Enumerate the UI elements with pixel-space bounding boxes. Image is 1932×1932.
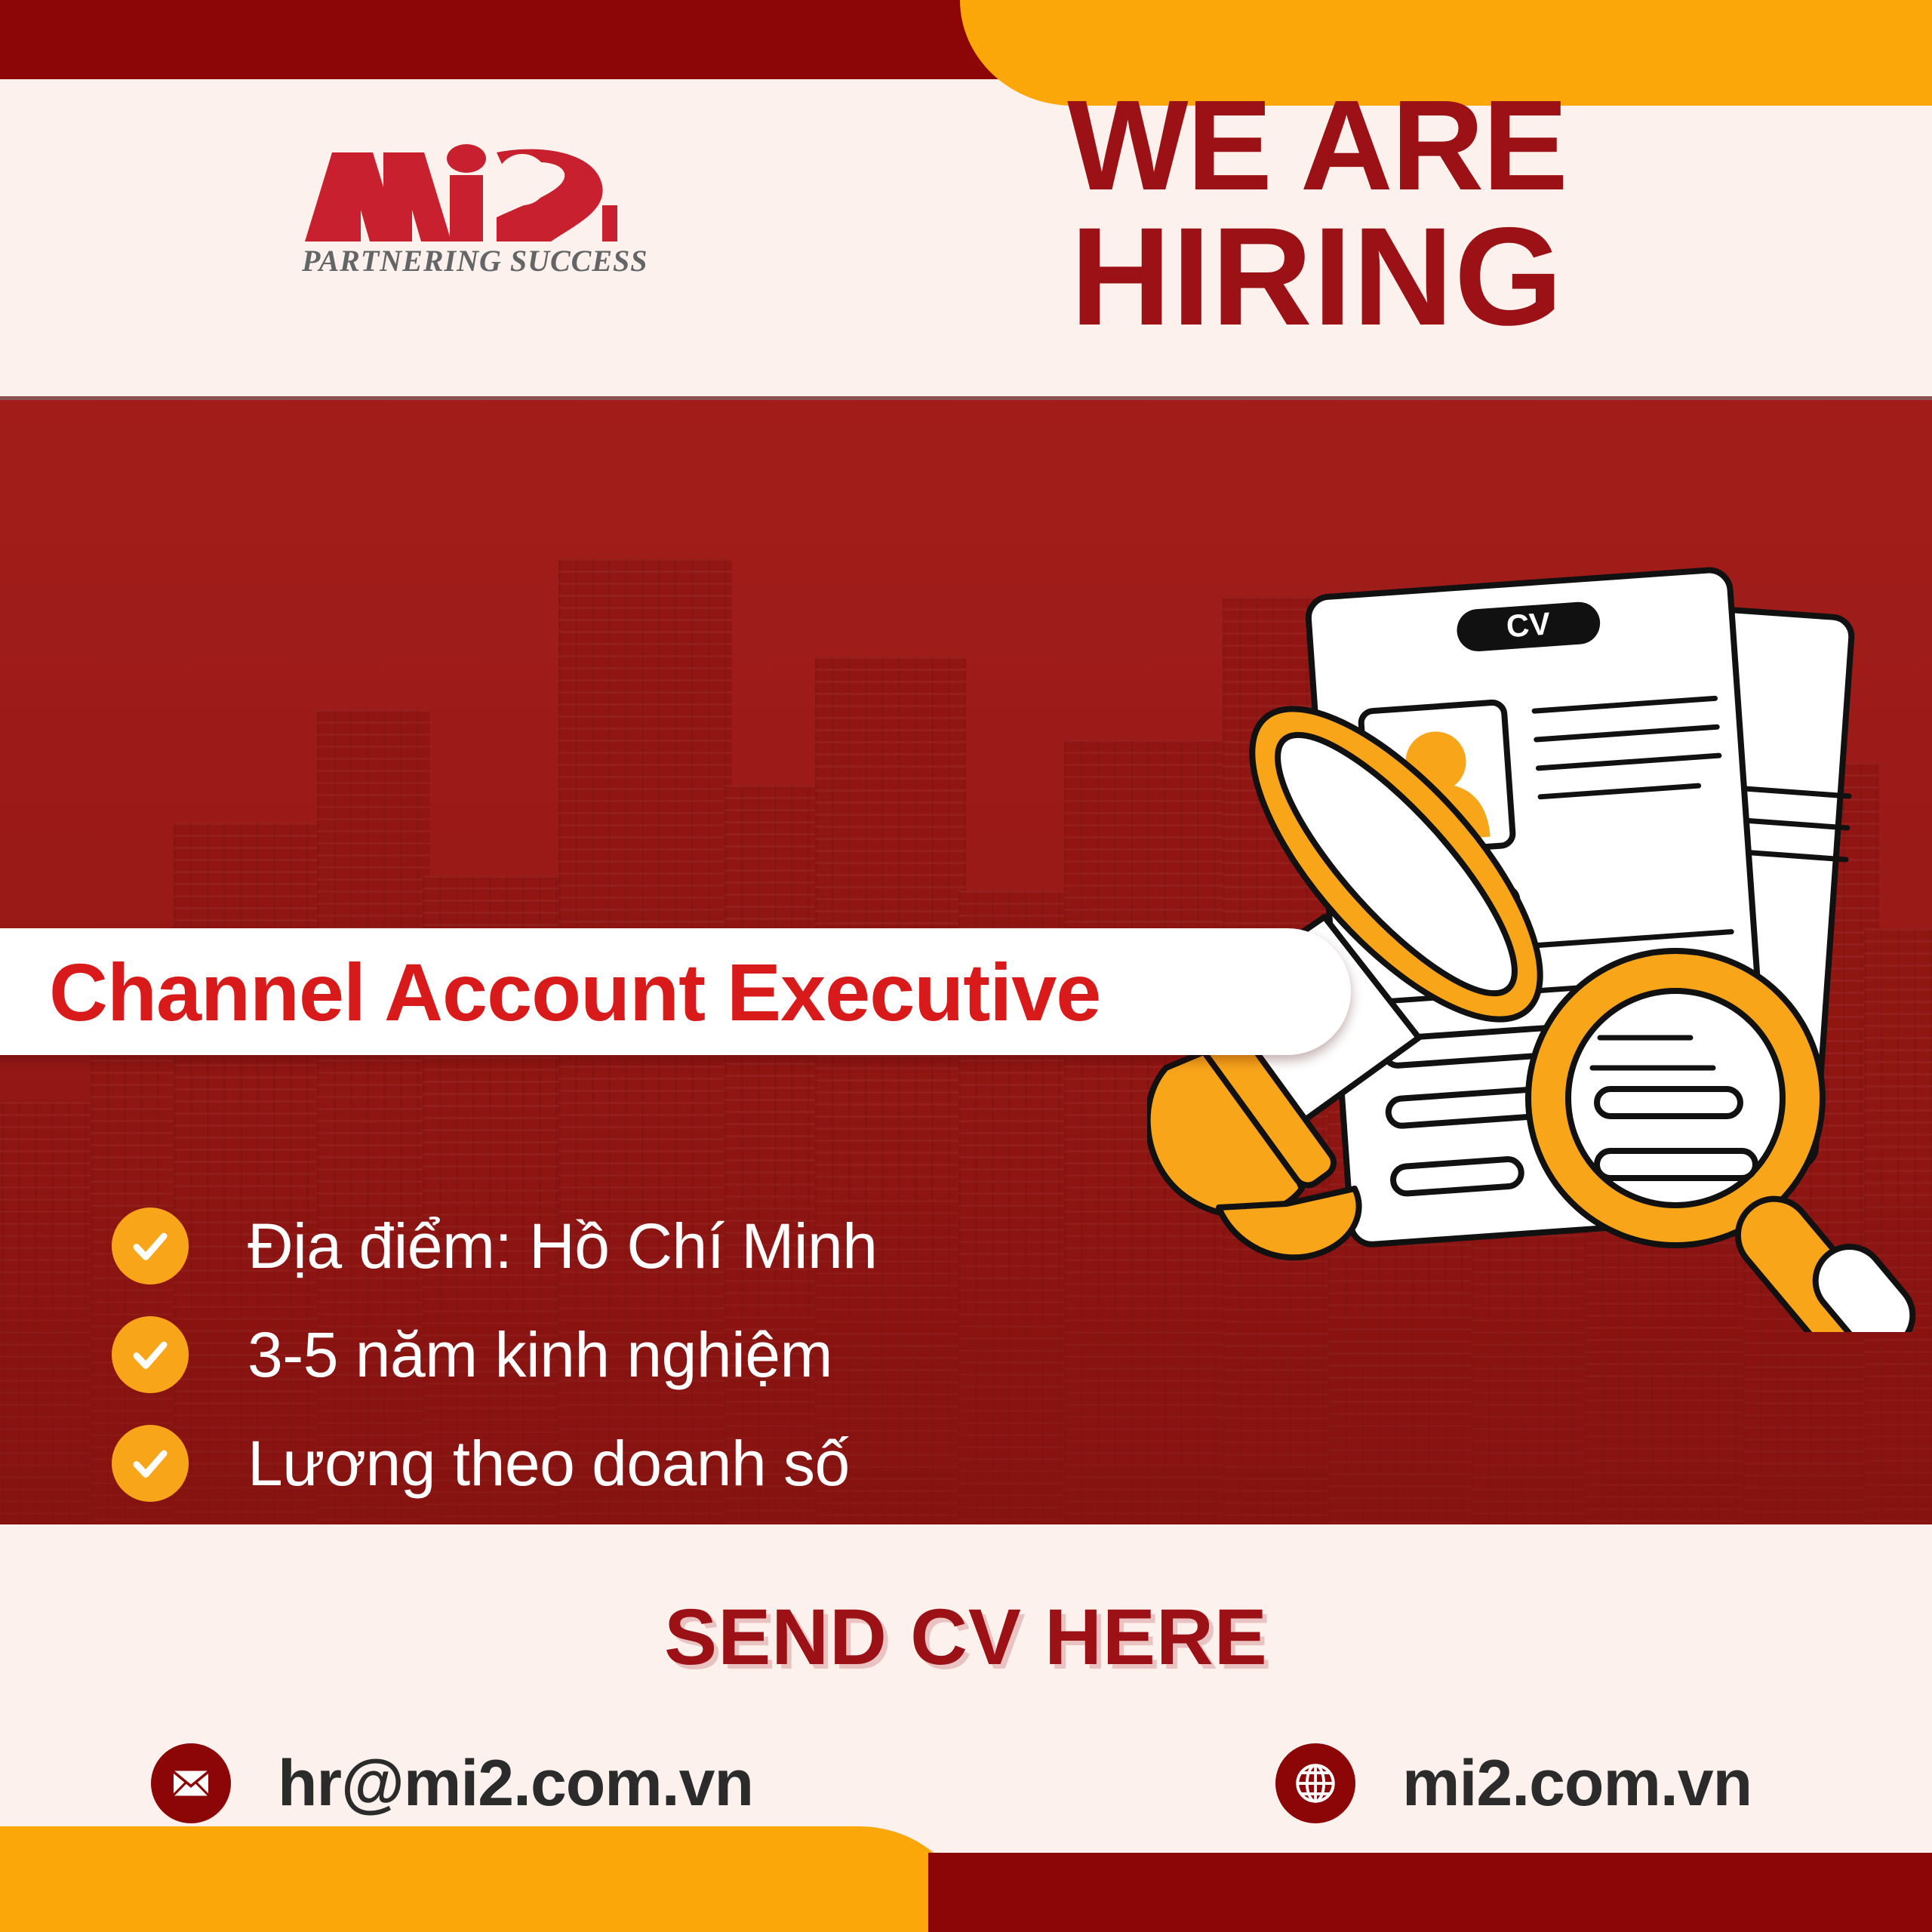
poster-header: PARTNERING SUCCESS WE ARE HIRING <box>0 79 1932 396</box>
requirement-item: Lương theo doanh số <box>112 1425 935 1502</box>
magnifier-icon <box>1528 951 1927 1332</box>
hero-top-shadow <box>0 396 1932 400</box>
mi2-logo-mark <box>302 136 619 249</box>
email-value: hr@mi2.com.vn <box>278 1746 753 1821</box>
requirement-text: 3-5 năm kinh nghiệm <box>248 1318 832 1392</box>
requirement-text: Lương theo doanh số <box>248 1427 850 1500</box>
check-icon <box>112 1425 189 1502</box>
cv-label: CV <box>1505 605 1551 644</box>
logo-tagline: PARTNERING SUCCESS <box>302 243 619 278</box>
send-cv-heading: SEND CV HERE <box>0 1592 1932 1683</box>
hiring-poster: PARTNERING SUCCESS WE ARE HIRING <box>0 0 1932 1932</box>
job-title-banner: Channel Account Executive <box>0 928 1351 1055</box>
title-line-2: HIRING <box>864 209 1770 346</box>
globe-icon <box>1275 1743 1355 1823</box>
poster-footer: SEND CV HERE hr@mi2.com.vn <box>0 1570 1932 1932</box>
page-title: WE ARE HIRING <box>864 83 1770 346</box>
requirements-list: Địa điểm: Hồ Chí Minh 3-5 năm kinh nghiệ… <box>112 1207 935 1524</box>
mi2-logo: PARTNERING SUCCESS <box>302 136 619 287</box>
job-title: Channel Account Executive <box>49 945 1100 1039</box>
hero-panel: CV <box>0 396 1932 1524</box>
envelope-icon <box>151 1743 231 1823</box>
title-line-1: WE ARE <box>864 83 1770 209</box>
check-icon <box>112 1316 189 1393</box>
website-value: mi2.com.vn <box>1402 1746 1752 1821</box>
contact-website[interactable]: mi2.com.vn <box>1275 1743 1752 1823</box>
check-icon <box>112 1207 189 1284</box>
contact-email[interactable]: hr@mi2.com.vn <box>151 1743 753 1823</box>
top-left-red-band <box>0 0 1004 79</box>
requirement-item: 3-5 năm kinh nghiệm <box>112 1316 935 1393</box>
requirement-text: Địa điểm: Hồ Chí Minh <box>248 1210 877 1283</box>
requirement-item: Địa điểm: Hồ Chí Minh <box>112 1207 935 1284</box>
